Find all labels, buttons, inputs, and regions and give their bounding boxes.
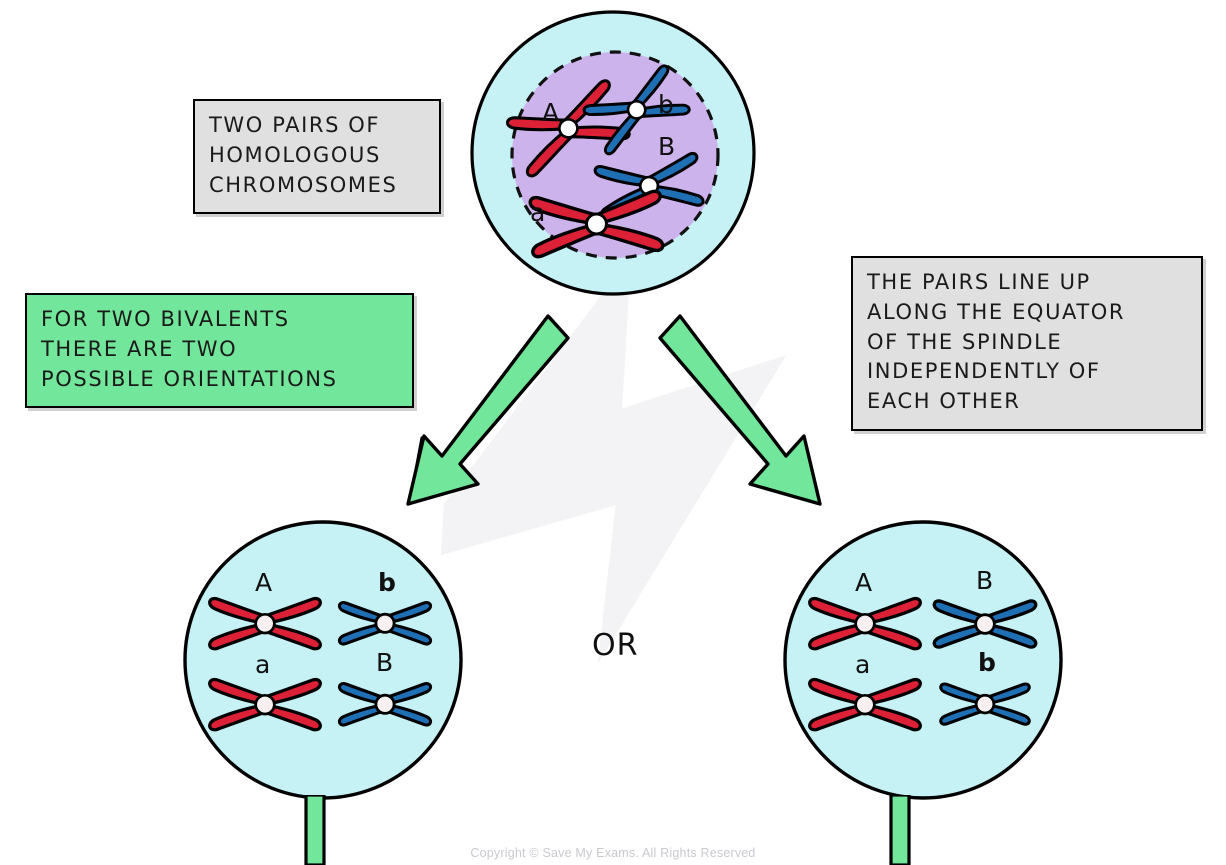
centromere <box>856 695 875 714</box>
diagram-canvas: TWO PAIRS OF HOMOLOGOUS CHROMOSOMES FOR … <box>0 0 1226 865</box>
chromosome-label-A: A <box>255 570 272 595</box>
callout-pairs-line-up-equator: THE PAIRS LINE UP ALONG THE EQUATOR OF T… <box>851 256 1203 431</box>
arrow-to-orientation-two <box>655 312 830 512</box>
chromosome-label-B: B <box>658 134 675 159</box>
chromosome-label-a: a <box>255 652 270 677</box>
centromere <box>586 213 607 234</box>
cell-membrane <box>785 522 1061 798</box>
centromere <box>376 695 394 713</box>
chromosome-label-B: B <box>976 568 993 593</box>
centromere <box>256 695 275 714</box>
chromosome-label-a: a <box>530 200 545 225</box>
cell-membrane <box>185 522 461 798</box>
or-separator-label: OR <box>592 628 638 663</box>
centromere <box>376 614 394 632</box>
chromosome-label-b: b <box>378 570 396 595</box>
orientation-two-cell: A B a b <box>782 519 1065 802</box>
centromere <box>256 614 275 633</box>
parent-cell: A b B a <box>468 8 758 298</box>
orientation-one-cell: A b a B <box>182 519 465 802</box>
arrow-to-orientation-one <box>398 312 573 512</box>
centromere <box>976 615 995 634</box>
chromosome-label-b: b <box>658 92 674 117</box>
chromosome-label-A: A <box>542 100 559 125</box>
centromere <box>976 695 994 713</box>
chromosome-label-A: A <box>855 570 872 595</box>
callout-two-possible-orientations: FOR TWO BIVALENTS THERE ARE TWO POSSIBLE… <box>25 293 414 408</box>
copyright-notice: Copyright © Save My Exams. All Rights Re… <box>0 846 1226 860</box>
chromosome-label-a: a <box>855 652 870 677</box>
callout-homologous-chromosomes: TWO PAIRS OF HOMOLOGOUS CHROMOSOMES <box>193 99 441 214</box>
chromosome-label-B: B <box>376 650 393 675</box>
centromere <box>856 614 875 633</box>
chromosome-label-b: b <box>978 650 996 675</box>
